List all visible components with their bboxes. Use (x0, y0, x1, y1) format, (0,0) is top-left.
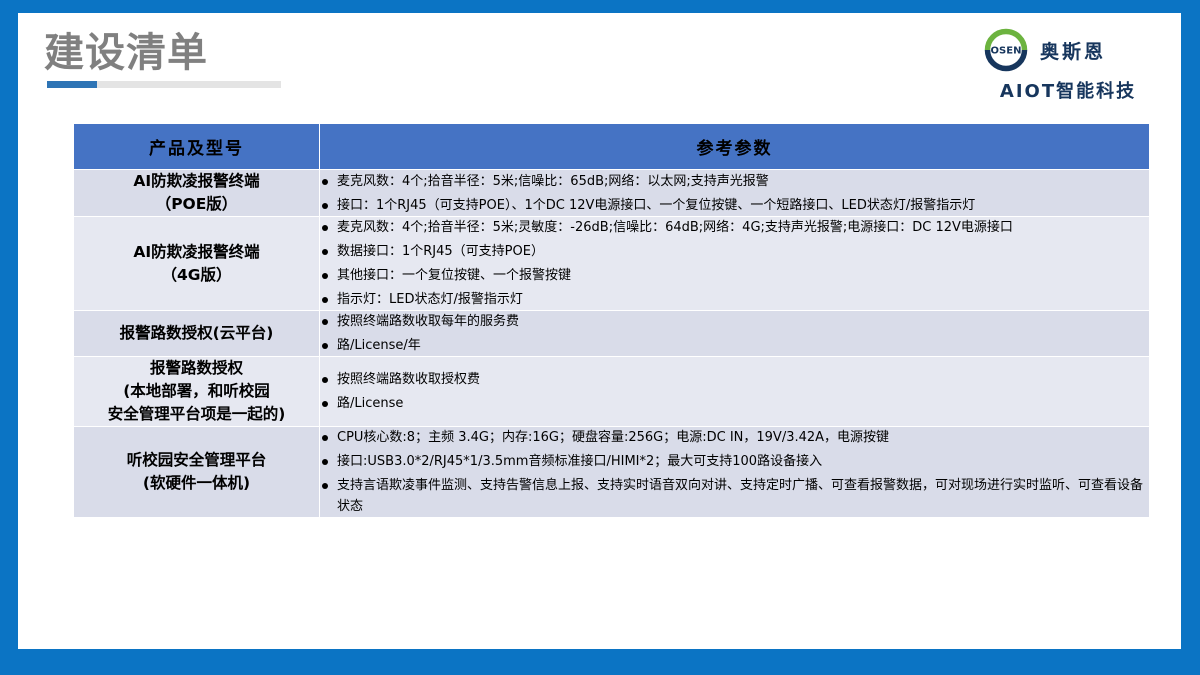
slide: 建设清单 OSEN 奥斯恩 AIOT智能科技 (0, 0, 1200, 675)
osen-circle-icon: OSEN (982, 26, 1030, 74)
column-header-product: 产品及型号 (74, 124, 320, 170)
parameter-item: 麦克风数：4个;拾音半径：5米;灵敏度：-26dB;信噪比：64dB;网络：4G… (320, 217, 1149, 238)
table-row: 报警路数授权(云平台) 按照终端路数收取每年的服务费 路/License/年 (74, 311, 1150, 357)
page-title: 建设清单 (44, 29, 281, 77)
company-logo: OSEN 奥斯恩 AIOT智能科技 (982, 25, 1154, 105)
slide-bottom-bar (0, 649, 1200, 675)
parameter-item: CPU核心数:8；主频 3.4G；内存:16G；硬盘容量:256G；电源:DC … (320, 427, 1149, 448)
slide-content-area: 建设清单 OSEN 奥斯恩 AIOT智能科技 (18, 13, 1181, 649)
title-underline-accent (47, 81, 97, 88)
title-underline-rule (47, 81, 281, 88)
parameter-item: 路/License (320, 393, 1149, 414)
product-name-line: 安全管理平台项是一起的) (74, 403, 319, 426)
product-name-line: 听校园安全管理平台 (74, 449, 319, 472)
parameter-list: 麦克风数：4个;拾音半径：5米;信噪比：65dB;网络：以太网;支持声光报警 接… (320, 171, 1149, 216)
cell-parameters: CPU核心数:8；主频 3.4G；内存:16G；硬盘容量:256G；电源:DC … (320, 427, 1150, 518)
build-list-table: 产品及型号 参考参数 AI防欺凌报警终端 （POE版） 麦克风数：4个;拾音半径… (73, 123, 1150, 518)
cell-product-name: AI防欺凌报警终端 （POE版） (74, 170, 320, 217)
product-name-line: 报警路数授权(云平台) (74, 322, 319, 345)
parameter-item: 数据接口：1个RJ45（可支持POE） (320, 241, 1149, 262)
parameter-list: 按照终端路数收取每年的服务费 路/License/年 (320, 311, 1149, 356)
logo-brand-name: 奥斯恩 (1040, 37, 1106, 64)
parameter-item: 指示灯：LED状态灯/报警指示灯 (320, 289, 1149, 310)
parameter-item: 麦克风数：4个;拾音半径：5米;信噪比：65dB;网络：以太网;支持声光报警 (320, 171, 1149, 192)
parameter-item: 按照终端路数收取授权费 (320, 369, 1149, 390)
cell-parameters: 麦克风数：4个;拾音半径：5米;信噪比：65dB;网络：以太网;支持声光报警 接… (320, 170, 1150, 217)
product-name-line: (软硬件一体机) (74, 472, 319, 495)
cell-product-name: 听校园安全管理平台 (软硬件一体机) (74, 427, 320, 518)
parameter-item: 路/License/年 (320, 335, 1149, 356)
parameter-list: 按照终端路数收取授权费 路/License (320, 369, 1149, 414)
table-row: 报警路数授权 (本地部署，和听校园 安全管理平台项是一起的) 按照终端路数收取授… (74, 357, 1150, 427)
title-block: 建设清单 (44, 29, 281, 88)
table-header-row: 产品及型号 参考参数 (74, 124, 1150, 170)
svg-text:OSEN: OSEN (991, 46, 1022, 57)
table-row: AI防欺凌报警终端 （POE版） 麦克风数：4个;拾音半径：5米;信噪比：65d… (74, 170, 1150, 217)
table-body: AI防欺凌报警终端 （POE版） 麦克风数：4个;拾音半径：5米;信噪比：65d… (74, 170, 1150, 518)
column-header-params: 参考参数 (320, 124, 1150, 170)
product-name-line: （4G版） (74, 264, 319, 287)
logo-top-row: OSEN 奥斯恩 (982, 25, 1154, 75)
product-name-line: (本地部署，和听校园 (74, 380, 319, 403)
cell-parameters: 按照终端路数收取每年的服务费 路/License/年 (320, 311, 1150, 357)
parameter-item: 按照终端路数收取每年的服务费 (320, 311, 1149, 332)
parameter-item: 支持言语欺凌事件监测、支持告警信息上报、支持实时语音双向对讲、支持定时广播、可查… (320, 475, 1149, 517)
logo-tagline: AIOT智能科技 (982, 77, 1154, 103)
table-header: 产品及型号 参考参数 (74, 124, 1150, 170)
cell-product-name: 报警路数授权 (本地部署，和听校园 安全管理平台项是一起的) (74, 357, 320, 427)
cell-product-name: AI防欺凌报警终端 （4G版） (74, 217, 320, 311)
product-name-line: （POE版） (74, 193, 319, 216)
cell-parameters: 麦克风数：4个;拾音半径：5米;灵敏度：-26dB;信噪比：64dB;网络：4G… (320, 217, 1150, 311)
table-row: 听校园安全管理平台 (软硬件一体机) CPU核心数:8；主频 3.4G；内存:1… (74, 427, 1150, 518)
parameter-item: 接口:USB3.0*2/RJ45*1/3.5mm音频标准接口/HIMI*2；最大… (320, 451, 1149, 472)
table-row: AI防欺凌报警终端 （4G版） 麦克风数：4个;拾音半径：5米;灵敏度：-26d… (74, 217, 1150, 311)
product-name-line: 报警路数授权 (74, 357, 319, 380)
product-name-line: AI防欺凌报警终端 (74, 170, 319, 193)
parameter-item: 接口：1个RJ45（可支持POE）、1个DC 12V电源接口、一个复位按键、一个… (320, 195, 1149, 216)
product-name-line: AI防欺凌报警终端 (74, 241, 319, 264)
parameter-item: 其他接口：一个复位按键、一个报警按键 (320, 265, 1149, 286)
cell-product-name: 报警路数授权(云平台) (74, 311, 320, 357)
cell-parameters: 按照终端路数收取授权费 路/License (320, 357, 1150, 427)
parameter-list: 麦克风数：4个;拾音半径：5米;灵敏度：-26dB;信噪比：64dB;网络：4G… (320, 217, 1149, 310)
parameter-list: CPU核心数:8；主频 3.4G；内存:16G；硬盘容量:256G；电源:DC … (320, 427, 1149, 517)
